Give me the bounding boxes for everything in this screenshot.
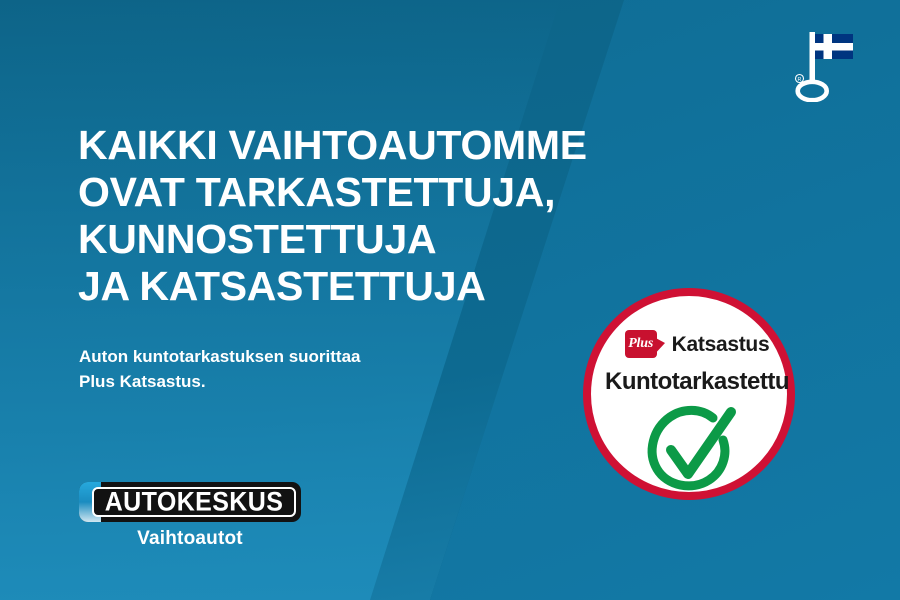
green-checkmark-icon [635, 404, 759, 496]
subtitle-line-1: Auton kuntotarkastuksen suorittaa [79, 344, 499, 369]
avainlippu-key-flag-icon: R [786, 26, 860, 102]
promotional-banner: R KAIKKI VAIHTOAUTOMME OVAT TARKASTETTUJ… [0, 0, 900, 600]
badge-brand-name: Katsastus [672, 334, 770, 355]
autokeskus-wordmark: AUTOKESKUS [105, 489, 284, 516]
headline-line-3: KUNNOSTETTUJA [78, 216, 698, 263]
subtitle: Auton kuntotarkastuksen suorittaa Plus K… [79, 344, 499, 394]
subtitle-line-2: Plus Katsastus. [79, 369, 499, 394]
headline-line-4: JA KATSASTETTUJA [78, 263, 698, 310]
autokeskus-logo[interactable]: AUTOKESKUS [79, 482, 301, 522]
svg-text:R: R [798, 77, 802, 83]
badge-title: Kuntotarkastettu [591, 370, 803, 394]
headline-line-1: KAIKKI VAIHTOAUTOMME [78, 122, 698, 169]
autokeskus-tagline: Vaihtoautot [79, 528, 301, 550]
badge-brand-row: Plus Katsastus [591, 330, 803, 358]
plus-logo-box: Plus [625, 330, 657, 358]
kuntotarkastettu-badge: Plus Katsastus Kuntotarkastettu [583, 288, 795, 500]
headline: KAIKKI VAIHTOAUTOMME OVAT TARKASTETTUJA,… [78, 122, 698, 310]
plus-logo-text: Plus [628, 337, 653, 351]
plus-logo-icon: Plus [625, 330, 665, 358]
headline-line-2: OVAT TARKASTETTUJA, [78, 169, 698, 216]
autokeskus-logo-frame: AUTOKESKUS [92, 487, 296, 517]
